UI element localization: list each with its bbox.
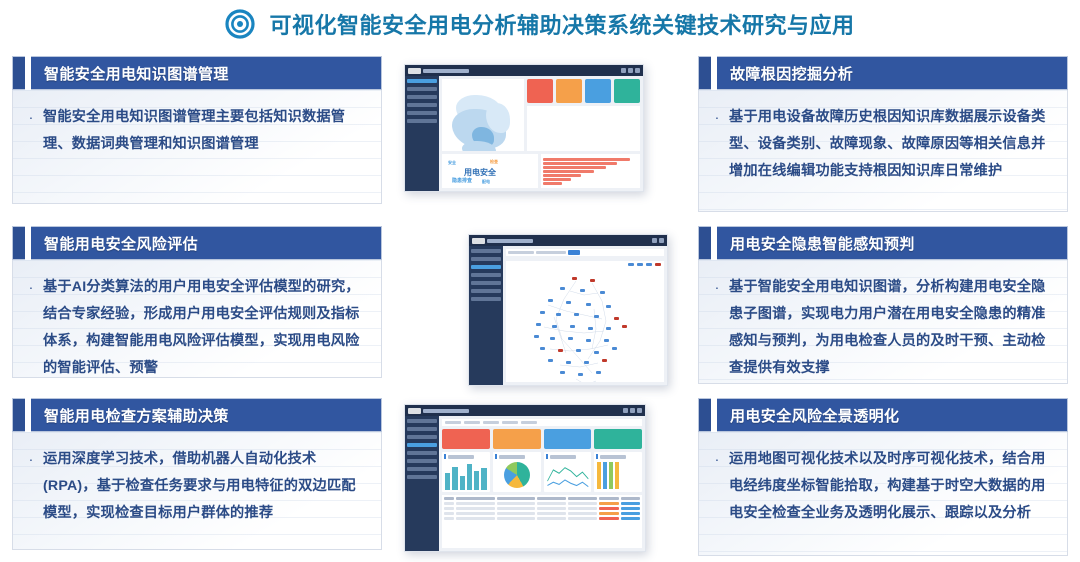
- stacked-bar-chart[interactable]: [527, 106, 640, 151]
- graph-node[interactable]: [540, 347, 545, 350]
- graph-node[interactable]: [566, 301, 571, 304]
- sidebar-item[interactable]: [407, 467, 437, 471]
- titlebar-actions[interactable]: [623, 408, 642, 413]
- dashboard-right-column: [527, 79, 640, 151]
- sankey-node: [597, 462, 601, 489]
- table-cell: [568, 507, 597, 510]
- graph-node[interactable]: [600, 291, 605, 294]
- app-content: [439, 416, 645, 551]
- graph-node[interactable]: [576, 349, 581, 352]
- header-bar: 智能用电检查方案辅助决策: [31, 398, 382, 432]
- graph-node[interactable]: [594, 351, 599, 354]
- table-cell: [456, 512, 495, 515]
- screenshot-knowledge-graph[interactable]: [468, 234, 668, 386]
- user-icon[interactable]: [659, 238, 664, 243]
- card-header: 用电安全隐患智能感知预判: [698, 226, 1068, 260]
- app-window: [469, 235, 667, 385]
- card-title: 智能用电检查方案辅助决策: [44, 405, 229, 426]
- bar-group: [586, 109, 601, 148]
- grouped-bar-chart: [444, 461, 488, 490]
- graph-node[interactable]: [594, 315, 599, 318]
- sankey-chart: [596, 461, 640, 490]
- app-name-text: [423, 409, 469, 413]
- hbar: [543, 158, 631, 161]
- graph-node[interactable]: [606, 327, 611, 330]
- user-icon[interactable]: [630, 408, 635, 413]
- word-cloud-term: 安全: [448, 160, 456, 166]
- table-header-cell: [537, 497, 566, 500]
- card-body: · 基于智能安全用电知识图谱，分析构建用电安全隐患子图谱，实现电力用户潜在用电安…: [698, 260, 1068, 384]
- app-sidebar[interactable]: [405, 76, 439, 191]
- graph-node[interactable]: [534, 335, 539, 338]
- page-header: 可视化智能安全用电分析辅助决策系统关键技术研究与应用: [0, 0, 1080, 48]
- header-bar: 故障根因挖掘分析: [717, 56, 1068, 90]
- table-cell: [568, 512, 597, 515]
- card-body: · 运用地图可视化技术以及时序可视化技术，结合用电经纬度坐标智能拾取，构建基于时…: [698, 432, 1068, 556]
- table-cell: [456, 502, 495, 505]
- app-main: [405, 416, 645, 551]
- panel-title-text: [600, 455, 626, 459]
- sidebar-item[interactable]: [407, 119, 437, 123]
- sankey-node: [603, 462, 607, 489]
- kpi-card[interactable]: [527, 79, 553, 103]
- table-row[interactable]: [444, 512, 640, 515]
- header-bar: 用电安全风险全景透明化: [717, 398, 1068, 432]
- table-cell-status: [599, 502, 618, 505]
- card-title: 用电安全风险全景透明化: [730, 405, 899, 426]
- card-text: 运用深度学习技术，借助机器人自动化技术(RPA)，基于检查任务要求与用电特征的双…: [43, 446, 365, 527]
- table-cell: [444, 502, 454, 505]
- tab-item[interactable]: [445, 421, 461, 424]
- sidebar-item[interactable]: [471, 273, 501, 277]
- app-content: 安全 用电安全 隐患排查 检查 配电: [439, 76, 643, 191]
- sidebar-item[interactable]: [471, 265, 501, 269]
- hbar: [543, 174, 581, 177]
- panel-header: [546, 454, 590, 459]
- graph-node[interactable]: [574, 313, 579, 316]
- chart-row: [442, 452, 642, 492]
- graph-node[interactable]: [586, 303, 591, 306]
- menu-icon[interactable]: [637, 408, 642, 413]
- app-brand: [472, 238, 533, 244]
- table-cell: [568, 517, 597, 520]
- word-cloud-term: 配电: [482, 179, 490, 185]
- hbar: [543, 178, 572, 181]
- sidebar-item[interactable]: [407, 111, 437, 115]
- header-accent-block: [698, 398, 711, 432]
- table-cell: [537, 512, 566, 515]
- app-sidebar[interactable]: [405, 416, 439, 551]
- table-cell: [456, 517, 495, 520]
- bullet-marker: ·: [27, 446, 35, 473]
- panel-header: [444, 454, 488, 459]
- app-logo-icon: [472, 238, 485, 244]
- table-header-cell: [456, 497, 495, 500]
- bar-group: [530, 109, 545, 148]
- grouped-bar-chart-panel[interactable]: [442, 452, 490, 492]
- card-body: · 基于AI分类算法的用户用电安全评估模型的研究，结合专家经验，形成用户用电安全…: [12, 260, 382, 378]
- table-cell-status: [599, 507, 618, 510]
- kpi-card[interactable]: [594, 429, 642, 449]
- graph-node[interactable]: [602, 359, 607, 362]
- user-icon[interactable]: [628, 68, 633, 73]
- graph-node[interactable]: [556, 313, 561, 316]
- sidebar-item[interactable]: [407, 87, 437, 91]
- table-cell: [537, 507, 566, 510]
- sidebar-item[interactable]: [407, 435, 437, 439]
- table-cell: [537, 502, 566, 505]
- table-cell-status: [599, 512, 618, 515]
- screenshot-map-dashboard[interactable]: 安全 用电安全 隐患排查 检查 配电: [404, 64, 644, 192]
- graph-node[interactable]: [622, 325, 627, 328]
- word-cloud-panel[interactable]: 安全 用电安全 隐患排查 检查 配电: [442, 154, 538, 188]
- sankey-node: [609, 462, 613, 489]
- dashboard-lower-row: 安全 用电安全 隐患排查 检查 配电: [442, 154, 640, 188]
- app-logo-icon: [408, 68, 421, 74]
- app-logo-icon: [408, 408, 421, 414]
- table-cell: [444, 507, 454, 510]
- header-bar: 智能用电安全风险评估: [31, 226, 382, 260]
- bar-group: [567, 109, 582, 148]
- horizontal-bar-chart[interactable]: [541, 154, 641, 188]
- graph-node[interactable]: [558, 349, 563, 352]
- sankey-chart-panel[interactable]: [594, 452, 642, 492]
- card-text: 基于智能安全用电知识图谱，分析构建用电安全隐患子图谱，实现电力用户潜在用电安全隐…: [729, 274, 1051, 382]
- panel-header: [596, 454, 640, 459]
- table-cell: [456, 507, 495, 510]
- graph-node[interactable]: [570, 325, 575, 328]
- card-text: 基于用电设备故障历史根因知识库数据展示设备类型、设备类别、故障现象、故障原因等相…: [729, 104, 1051, 185]
- tab-item[interactable]: [521, 421, 537, 424]
- table-cell: [497, 502, 536, 505]
- graph-node[interactable]: [588, 327, 593, 330]
- table-header-cell: [599, 497, 618, 500]
- tab-item[interactable]: [483, 421, 499, 424]
- sidebar-item[interactable]: [407, 459, 437, 463]
- panel-title-text: [550, 455, 576, 459]
- table-row[interactable]: [444, 507, 640, 510]
- page-title: 可视化智能安全用电分析辅助决策系统关键技术研究与应用: [269, 8, 854, 40]
- card-title: 智能用电安全风险评估: [44, 233, 198, 254]
- header-accent-block: [698, 226, 711, 260]
- graph-node[interactable]: [560, 287, 565, 290]
- card-risk-assessment[interactable]: 智能用电安全风险评估 · 基于AI分类算法的用户用电安全评估模型的研究，结合专家…: [12, 226, 382, 378]
- table-cell-status: [599, 517, 618, 520]
- graph-node[interactable]: [580, 289, 585, 292]
- app-sidebar[interactable]: [469, 246, 503, 385]
- kpi-card-row: [442, 429, 642, 449]
- table-cell: [497, 517, 536, 520]
- graph-node[interactable]: [572, 277, 577, 280]
- sidebar-item[interactable]: [471, 281, 501, 285]
- bullet-marker: ·: [713, 446, 721, 473]
- panel-title-text: [448, 455, 474, 459]
- table-cell: [497, 512, 536, 515]
- bar-group: [623, 109, 638, 148]
- graph-canvas[interactable]: [506, 261, 664, 382]
- kpi-card[interactable]: [556, 79, 582, 103]
- card-text: 运用地图可视化技术以及时序可视化技术，结合用电经纬度坐标智能拾取，构建基于时空大…: [729, 446, 1051, 527]
- card-title: 用电安全隐患智能感知预判: [730, 233, 915, 254]
- graph-node[interactable]: [604, 339, 609, 342]
- graph-node[interactable]: [540, 311, 545, 314]
- graph-node[interactable]: [612, 347, 617, 350]
- data-table[interactable]: [442, 495, 642, 548]
- card-body: · 智能安全用电知识图谱管理主要包括知识数据管理、数据词典管理和知识图谱管理: [12, 90, 382, 204]
- card-body: · 基于用电设备故障历史根因知识库数据展示设备类型、设备类别、故障现象、故障原因…: [698, 90, 1068, 212]
- graph-node[interactable]: [548, 359, 553, 362]
- table-cell-action[interactable]: [621, 507, 640, 510]
- app-name-text: [487, 239, 533, 243]
- bullet-marker: ·: [27, 104, 35, 131]
- card-knowledge-graph-management[interactable]: 智能安全用电知识图谱管理 · 智能安全用电知识图谱管理主要包括知识数据管理、数据…: [12, 56, 382, 204]
- header-accent-block: [12, 226, 25, 260]
- sidebar-item[interactable]: [407, 427, 437, 431]
- graph-node[interactable]: [560, 371, 565, 374]
- card-header: 用电安全风险全景透明化: [698, 398, 1068, 432]
- graph-node[interactable]: [586, 339, 591, 342]
- app-titlebar: [469, 235, 667, 246]
- bar-group: [604, 109, 619, 148]
- app-name-text: [423, 69, 469, 73]
- graph-node[interactable]: [568, 337, 573, 340]
- table-header-cell: [497, 497, 536, 500]
- card-title: 智能安全用电知识图谱管理: [44, 63, 229, 84]
- word-cloud-term: 检查: [490, 159, 498, 165]
- china-map-panel[interactable]: [442, 79, 524, 151]
- panel-title-text: [499, 455, 525, 459]
- kpi-card[interactable]: [544, 429, 592, 449]
- filter-toolbar[interactable]: [506, 249, 664, 256]
- graph-node[interactable]: [596, 371, 601, 374]
- card-body: · 运用深度学习技术，借助机器人自动化技术(RPA)，基于检查任务要求与用电特征…: [12, 432, 382, 550]
- table-cell-action[interactable]: [621, 502, 640, 505]
- bar: [481, 468, 486, 490]
- sidebar-item[interactable]: [407, 79, 437, 83]
- hbar: [543, 182, 562, 185]
- app-titlebar: [405, 65, 643, 76]
- tab-bar[interactable]: [442, 419, 642, 426]
- bullet-marker: ·: [27, 274, 35, 301]
- app-brand: [408, 408, 469, 414]
- graph-node[interactable]: [566, 361, 571, 364]
- titlebar-actions[interactable]: [652, 238, 664, 243]
- card-text: 基于AI分类算法的用户用电安全评估模型的研究，结合专家经验，形成用户用电安全评估…: [43, 274, 365, 378]
- filter-input[interactable]: [536, 251, 566, 254]
- table-cell-action[interactable]: [621, 512, 640, 515]
- card-header: 智能用电检查方案辅助决策: [12, 398, 382, 432]
- graph-node[interactable]: [548, 299, 553, 302]
- sidebar-item[interactable]: [407, 451, 437, 455]
- graph-node[interactable]: [614, 317, 619, 320]
- filter-select[interactable]: [508, 251, 534, 254]
- table-cell: [537, 517, 566, 520]
- graph-node[interactable]: [578, 373, 583, 376]
- search-button[interactable]: [568, 250, 580, 255]
- line-chart-panel[interactable]: [544, 452, 592, 492]
- table-cell: [497, 507, 536, 510]
- titlebar-actions[interactable]: [621, 68, 640, 73]
- table-cell-action[interactable]: [621, 517, 640, 520]
- graph-node[interactable]: [590, 279, 595, 282]
- tab-item[interactable]: [502, 421, 518, 424]
- screenshot-analytics-dashboard[interactable]: [404, 404, 646, 552]
- sidebar-item[interactable]: [407, 419, 437, 423]
- sidebar-item[interactable]: [471, 249, 501, 253]
- target-bullseye-icon: [225, 9, 255, 39]
- panel-header: [495, 454, 539, 459]
- header-accent-block: [12, 398, 25, 432]
- header-accent-block: [12, 56, 25, 90]
- bar: [467, 464, 472, 490]
- header-bar: 用电安全隐患智能感知预判: [717, 226, 1068, 260]
- kpi-card[interactable]: [493, 429, 541, 449]
- tab-item[interactable]: [464, 421, 480, 424]
- sidebar-item[interactable]: [407, 103, 437, 107]
- header-accent-block: [698, 56, 711, 90]
- graph-node[interactable]: [552, 325, 557, 328]
- card-hazard-perception[interactable]: 用电安全隐患智能感知预判 · 基于智能安全用电知识图谱，分析构建用电安全隐患子图…: [698, 226, 1068, 384]
- settings-icon[interactable]: [621, 68, 626, 73]
- sidebar-item[interactable]: [471, 297, 501, 301]
- content-board: 智能安全用电知识图谱管理 · 智能安全用电知识图谱管理主要包括知识数据管理、数据…: [0, 48, 1080, 562]
- table-cell: [444, 512, 454, 515]
- table-cell: [568, 502, 597, 505]
- kpi-card-row: [527, 79, 640, 103]
- app-content: [503, 246, 667, 385]
- sidebar-item[interactable]: [471, 257, 501, 261]
- graph-node[interactable]: [584, 361, 589, 364]
- menu-icon[interactable]: [635, 68, 640, 73]
- bar-group: [549, 109, 564, 148]
- bar: [445, 473, 450, 490]
- bullet-marker: ·: [713, 274, 721, 301]
- kpi-card[interactable]: [614, 79, 640, 103]
- sankey-node: [615, 462, 619, 489]
- table-header-cell: [444, 497, 454, 500]
- table-header-row: [444, 497, 640, 500]
- sidebar-item[interactable]: [407, 95, 437, 99]
- hbar: [543, 166, 606, 169]
- header-bar: 智能安全用电知识图谱管理: [31, 56, 382, 90]
- app-window: 安全 用电安全 隐患排查 检查 配电: [405, 65, 643, 191]
- settings-icon[interactable]: [652, 238, 657, 243]
- sidebar-item[interactable]: [407, 475, 437, 479]
- bar: [474, 471, 479, 490]
- card-text: 智能安全用电知识图谱管理主要包括知识数据管理、数据词典管理和知识图谱管理: [43, 104, 365, 158]
- app-brand: [408, 68, 469, 74]
- word-cloud-term: 隐患排查: [452, 177, 472, 184]
- hbar: [543, 170, 595, 173]
- graph-node[interactable]: [606, 305, 611, 308]
- app-main: [469, 246, 667, 385]
- card-header: 故障根因挖掘分析: [698, 56, 1068, 90]
- card-header: 智能安全用电知识图谱管理: [12, 56, 382, 90]
- table-header-cell: [621, 497, 640, 500]
- app-main: 安全 用电安全 隐患排查 检查 配电: [405, 76, 643, 191]
- bullet-marker: ·: [713, 104, 721, 131]
- table-header-cell: [568, 497, 597, 500]
- pie-chart: [504, 462, 530, 488]
- table-row[interactable]: [444, 502, 640, 505]
- card-fault-root-cause[interactable]: 故障根因挖掘分析 · 基于用电设备故障历史根因知识库数据展示设备类型、设备类别、…: [698, 56, 1068, 212]
- kpi-card[interactable]: [442, 429, 490, 449]
- card-header: 智能用电安全风险评估: [12, 226, 382, 260]
- table-cell: [444, 517, 454, 520]
- pie-chart-panel[interactable]: [493, 452, 541, 492]
- app-window: [405, 405, 645, 551]
- card-risk-transparency[interactable]: 用电安全风险全景透明化 · 运用地图可视化技术以及时序可视化技术，结合用电经纬度…: [698, 398, 1068, 556]
- app-titlebar: [405, 405, 645, 416]
- dashboard-upper-row: [442, 79, 640, 151]
- settings-icon[interactable]: [623, 408, 628, 413]
- line-chart: [546, 461, 590, 490]
- sidebar-item[interactable]: [471, 289, 501, 293]
- bar: [460, 476, 465, 491]
- graph-node[interactable]: [536, 323, 541, 326]
- graph-node[interactable]: [550, 337, 555, 340]
- table-row[interactable]: [444, 517, 640, 520]
- sidebar-item[interactable]: [407, 443, 437, 447]
- card-inspection-decision[interactable]: 智能用电检查方案辅助决策 · 运用深度学习技术，借助机器人自动化技术(RPA)，…: [12, 398, 382, 550]
- hbar: [543, 162, 617, 165]
- card-title: 故障根因挖掘分析: [730, 63, 853, 84]
- bar: [452, 467, 457, 490]
- kpi-card[interactable]: [585, 79, 611, 103]
